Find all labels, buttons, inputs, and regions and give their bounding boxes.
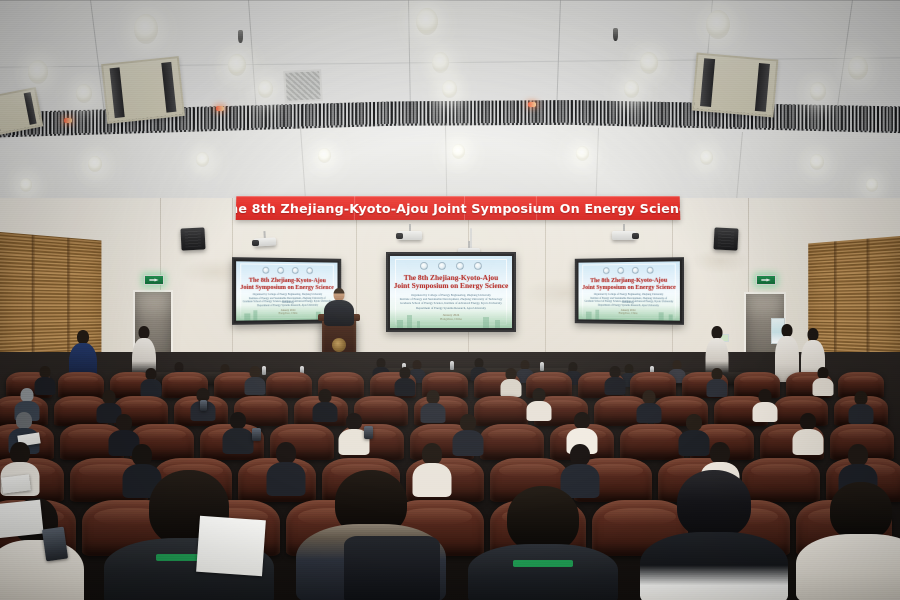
university-logo-icon: [647, 266, 654, 273]
attendee-head: [759, 389, 772, 403]
ac-vent-left: [101, 56, 185, 124]
attendee-head: [848, 444, 868, 466]
right-slide: The 8th Zhejiang-Kyoto-Ajou Joint Sympos…: [578, 261, 679, 320]
attendee-body: [793, 429, 824, 455]
university-logo-icon: [603, 267, 610, 274]
attendee-body: [453, 430, 484, 456]
smartphone[interactable]: [42, 527, 68, 562]
exit-sign-left: [144, 275, 164, 285]
attendee-head: [830, 482, 892, 540]
attendee-head: [507, 486, 579, 552]
university-logo-icon: [438, 262, 446, 270]
square-ceiling-vent: [283, 69, 323, 103]
ceiling-downlight: [88, 156, 102, 172]
attendee-head: [230, 412, 246, 429]
attendee-head: [686, 414, 702, 431]
slide-logo-row: [390, 262, 512, 270]
university-logo-icon: [632, 267, 639, 274]
ceiling-downlight: [706, 10, 730, 39]
backpack: [344, 536, 440, 600]
auditorium-photo: The 8th Zhejiang-Kyoto-Ajou Joint Sympos…: [0, 0, 900, 600]
attendee-body: [527, 401, 552, 421]
slide-logo-row: [578, 266, 679, 274]
foreground-attendee-far-right: [796, 482, 900, 600]
university-logo-icon: [474, 262, 482, 270]
ceiling-downlight: [810, 82, 826, 101]
projector-lens-right: [632, 233, 639, 239]
attendee-head: [346, 413, 362, 430]
sprinkler-head-1: [238, 30, 243, 43]
attendee-head: [103, 390, 116, 404]
attendee-body: [796, 534, 900, 600]
ceiling-downlight: [576, 146, 589, 161]
seated-attendee: [848, 391, 874, 421]
seated-attendee: [752, 389, 778, 419]
attendee-head: [16, 412, 32, 429]
attendee-head: [21, 388, 34, 402]
attendee-body: [245, 377, 266, 395]
ceiling-downlight: [134, 14, 158, 44]
speaker-body: [324, 300, 354, 326]
attendee-head: [116, 414, 132, 431]
university-logo-icon: [292, 267, 299, 274]
ceiling-downlight: [258, 80, 273, 98]
seated-attendee: [140, 368, 162, 394]
attendee-head: [427, 390, 440, 404]
projector-lens-center: [396, 233, 403, 239]
podium-emblem-icon: [332, 338, 346, 352]
attendee-head: [533, 388, 546, 402]
ceiling-downlight: [76, 84, 92, 103]
seated-attendee: [244, 366, 266, 392]
ceiling-downlight: [640, 52, 658, 74]
seated-attendee: [420, 390, 446, 420]
university-logo-icon: [420, 262, 428, 270]
auditorium-seat[interactable]: [266, 372, 312, 398]
smartphone[interactable]: [364, 426, 373, 439]
attendee-head: [643, 390, 656, 404]
lanyard: [513, 560, 573, 567]
university-logo-icon: [617, 267, 624, 274]
seated-attendee: [706, 368, 728, 394]
seated-attendee: [604, 366, 626, 392]
backpack-body: [344, 536, 440, 600]
right-projection-screen: The 8th Zhejiang-Kyoto-Ajou Joint Sympos…: [575, 257, 684, 325]
slide-skyline-graphic: [578, 305, 679, 321]
attendee-body: [813, 378, 834, 396]
ceiling: [0, 0, 900, 215]
attendee-head: [800, 413, 816, 430]
speaker-at-podium: [320, 288, 358, 322]
attendee-head: [855, 391, 868, 405]
university-logo-icon: [262, 266, 269, 273]
ceiling-downlight: [848, 56, 868, 80]
university-logo-icon: [456, 262, 464, 270]
attendee-head: [710, 442, 730, 464]
attendee-head: [276, 442, 296, 464]
auditorium-seat[interactable]: [480, 424, 544, 460]
ceiling-downlight: [810, 154, 824, 170]
foreground-attendee-center-right: [468, 486, 618, 600]
center-projection-screen: The 8th Zhejiang-Kyoto-Ajou Joint Sympos…: [386, 252, 516, 332]
slide-skyline-graphic: [390, 309, 512, 328]
seated-attendee: [394, 367, 416, 393]
emergency-light: [64, 118, 72, 123]
ceiling-downlight: [228, 54, 246, 76]
center-slide: The 8th Zhejiang-Kyoto-Ajou Joint Sympos…: [390, 256, 512, 328]
ceiling-downlight: [624, 80, 639, 98]
slide-logo-row: [236, 266, 337, 274]
seated-attendee: [500, 368, 522, 394]
attendee-body: [637, 403, 662, 423]
attendee-body: [141, 379, 162, 397]
attendee-head: [574, 412, 590, 429]
attendee-body: [501, 379, 522, 397]
ceiling-downlight: [28, 60, 48, 84]
ceiling-downlight: [866, 178, 878, 192]
ceiling-downlight: [432, 52, 449, 73]
seated-attendee: [526, 388, 552, 418]
ceiling-mount-pole: [470, 228, 472, 250]
slide-title-line2: Joint Symposium on Energy Science: [390, 281, 512, 291]
ceiling-downlight: [20, 178, 32, 192]
wall-speaker-right: [713, 227, 738, 250]
attendee-head: [460, 414, 476, 431]
handout-paper[interactable]: [1, 474, 31, 493]
attendee-head: [132, 444, 152, 466]
slide-title-line2: Joint Symposium on Energy Science: [578, 284, 679, 293]
university-logo-icon: [277, 267, 284, 274]
ac-vent-right: [692, 53, 779, 118]
sprinkler-head-2: [613, 28, 618, 41]
seated-attendee: [222, 412, 254, 450]
attendee-body: [395, 378, 416, 396]
attendee-body: [313, 402, 338, 422]
attendee-body: [707, 379, 728, 397]
wall-speaker-left: [180, 227, 205, 250]
handout-paper[interactable]: [0, 500, 44, 539]
water-bottle: [540, 362, 544, 371]
seated-attendee: [452, 414, 484, 452]
ceiling-downlight: [416, 8, 438, 35]
attendee-body: [0, 540, 84, 600]
smartphone[interactable]: [252, 428, 261, 441]
auditorium-seat[interactable]: [620, 424, 684, 460]
seated-attendee: [792, 413, 824, 451]
exit-sign-right: [756, 275, 776, 285]
attendee-body: [753, 402, 778, 422]
seated-attendee: [312, 389, 338, 419]
attendee-head: [570, 444, 590, 466]
attendee-body: [421, 403, 446, 423]
handout-paper[interactable]: [196, 516, 266, 576]
attendee-body: [605, 377, 626, 395]
ceiling-downlight: [700, 150, 713, 165]
seated-attendee: [560, 444, 600, 492]
attendee-head: [319, 389, 332, 403]
ceiling-downlight: [196, 152, 209, 167]
university-logo-icon: [307, 267, 314, 274]
event-banner: The 8th Zhejiang-Kyoto-Ajou Joint Sympos…: [236, 196, 681, 220]
attendee-body: [223, 428, 254, 454]
ceiling-downlight: [442, 80, 457, 98]
emergency-light: [528, 102, 536, 107]
attendee-body: [640, 532, 788, 600]
smartphone[interactable]: [200, 400, 207, 411]
attendee-body: [849, 404, 874, 424]
ceiling-downlight: [318, 148, 331, 163]
banner-text: The 8th Zhejiang-Kyoto-Ajou Joint Sympos…: [236, 201, 681, 216]
attendee-head: [77, 330, 89, 344]
seated-attendee: [812, 367, 834, 393]
ceiling-downlight: [452, 144, 465, 159]
projector-lens-left: [252, 240, 259, 246]
foreground-attendee-beanie: [640, 470, 788, 600]
attendee-head: [10, 442, 30, 464]
emergency-light: [216, 106, 224, 111]
attendee-head: [677, 470, 751, 538]
seated-attendee: [636, 390, 662, 420]
water-bottle: [450, 361, 454, 370]
attendee-body: [468, 544, 618, 600]
